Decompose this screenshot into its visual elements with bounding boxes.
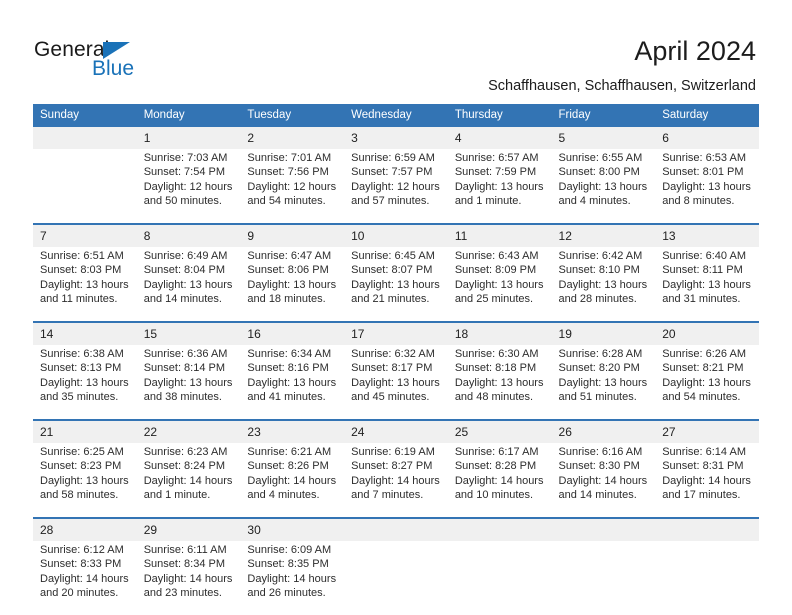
day-detail-line: Daylight: 13 hours xyxy=(455,278,546,292)
page-title: April 2024 xyxy=(634,36,756,67)
day-number-2[interactable]: 2 xyxy=(240,127,344,149)
day-detail-line: and 23 minutes. xyxy=(144,586,235,600)
day-detail-line: Sunrise: 6:47 AM xyxy=(247,249,338,263)
calendar-body: 123456Sunrise: 7:03 AMSunset: 7:54 PMDay… xyxy=(33,127,759,615)
day-detail-line: Daylight: 14 hours xyxy=(247,572,338,586)
day-number-27[interactable]: 27 xyxy=(655,420,759,443)
day-detail-line: and 48 minutes. xyxy=(455,390,546,404)
day-cell-27[interactable]: Sunrise: 6:14 AMSunset: 8:31 PMDaylight:… xyxy=(655,443,759,518)
day-detail-line: Sunrise: 6:55 AM xyxy=(559,151,650,165)
day-cell-empty xyxy=(344,541,448,615)
day-detail-line: Daylight: 13 hours xyxy=(559,278,650,292)
day-detail-line: Sunrise: 6:11 AM xyxy=(144,543,235,557)
day-detail-line: and 21 minutes. xyxy=(351,292,442,306)
day-number-29[interactable]: 29 xyxy=(137,518,241,541)
day-number-20[interactable]: 20 xyxy=(655,322,759,345)
day-detail-line: Daylight: 13 hours xyxy=(662,376,753,390)
day-detail-line: and 51 minutes. xyxy=(559,390,650,404)
brand-logo[interactable]: General Blue xyxy=(34,38,184,84)
day-detail-line: Daylight: 14 hours xyxy=(40,572,131,586)
calendar-week-row: Sunrise: 6:25 AMSunset: 8:23 PMDaylight:… xyxy=(33,443,759,518)
day-detail-line: and 20 minutes. xyxy=(40,586,131,600)
day-number-13[interactable]: 13 xyxy=(655,224,759,247)
day-detail-line: Daylight: 13 hours xyxy=(247,376,338,390)
day-detail-line: Sunset: 8:11 PM xyxy=(662,263,753,277)
day-detail-line: Sunrise: 6:21 AM xyxy=(247,445,338,459)
day-number-23[interactable]: 23 xyxy=(240,420,344,443)
day-detail-line: and 25 minutes. xyxy=(455,292,546,306)
calendar-week-row: Sunrise: 6:12 AMSunset: 8:33 PMDaylight:… xyxy=(33,541,759,615)
day-detail-line: Daylight: 13 hours xyxy=(455,376,546,390)
calendar-week-row: Sunrise: 6:38 AMSunset: 8:13 PMDaylight:… xyxy=(33,345,759,420)
day-number-19[interactable]: 19 xyxy=(552,322,656,345)
day-number-7[interactable]: 7 xyxy=(33,224,137,247)
day-detail-line: Daylight: 14 hours xyxy=(559,474,650,488)
day-detail-line: and 10 minutes. xyxy=(455,488,546,502)
day-detail-line: Sunrise: 6:16 AM xyxy=(559,445,650,459)
day-detail-line: Sunset: 8:16 PM xyxy=(247,361,338,375)
day-cell-17[interactable]: Sunrise: 6:32 AMSunset: 8:17 PMDaylight:… xyxy=(344,345,448,420)
day-detail-line: Sunset: 8:07 PM xyxy=(351,263,442,277)
day-detail-line: and 57 minutes. xyxy=(351,194,442,208)
day-cell-13[interactable]: Sunrise: 6:40 AMSunset: 8:11 PMDaylight:… xyxy=(655,247,759,322)
day-detail-line: Daylight: 13 hours xyxy=(351,278,442,292)
calendar-column-header-sunday: Sunday xyxy=(33,104,137,127)
day-cell-22[interactable]: Sunrise: 6:23 AMSunset: 8:24 PMDaylight:… xyxy=(137,443,241,518)
day-detail-line: Sunrise: 6:38 AM xyxy=(40,347,131,361)
day-detail-line: Daylight: 13 hours xyxy=(144,278,235,292)
day-detail-line: Sunset: 8:20 PM xyxy=(559,361,650,375)
day-number-empty xyxy=(344,518,448,541)
day-detail-line: Daylight: 12 hours xyxy=(351,180,442,194)
calendar-table: SundayMondayTuesdayWednesdayThursdayFrid… xyxy=(33,104,759,615)
day-number-empty xyxy=(552,518,656,541)
day-detail-line: Sunset: 8:24 PM xyxy=(144,459,235,473)
day-detail-line: Sunrise: 6:30 AM xyxy=(455,347,546,361)
day-detail-line: Daylight: 13 hours xyxy=(247,278,338,292)
day-detail-line: Sunrise: 6:26 AM xyxy=(662,347,753,361)
day-detail-line: and 4 minutes. xyxy=(247,488,338,502)
day-detail-line: Sunset: 8:35 PM xyxy=(247,557,338,571)
calendar-page: General Blue April 2024 Schaffhausen, Sc… xyxy=(0,0,792,612)
day-number-14[interactable]: 14 xyxy=(33,322,137,345)
day-detail-line: Daylight: 13 hours xyxy=(40,278,131,292)
day-number-28[interactable]: 28 xyxy=(33,518,137,541)
day-detail-line: Sunrise: 6:34 AM xyxy=(247,347,338,361)
day-detail-line: and 31 minutes. xyxy=(662,292,753,306)
day-number-5[interactable]: 5 xyxy=(552,127,656,149)
day-detail-line: Sunset: 8:03 PM xyxy=(40,263,131,277)
day-number-12[interactable]: 12 xyxy=(552,224,656,247)
day-detail-line: Sunset: 8:10 PM xyxy=(559,263,650,277)
day-detail-line: Sunrise: 6:09 AM xyxy=(247,543,338,557)
day-detail-line: Sunset: 8:06 PM xyxy=(247,263,338,277)
day-detail-line: Sunrise: 6:43 AM xyxy=(455,249,546,263)
day-number-24[interactable]: 24 xyxy=(344,420,448,443)
day-cell-3[interactable]: Sunrise: 6:59 AMSunset: 7:57 PMDaylight:… xyxy=(344,149,448,224)
day-number-17[interactable]: 17 xyxy=(344,322,448,345)
day-cell-26[interactable]: Sunrise: 6:16 AMSunset: 8:30 PMDaylight:… xyxy=(552,443,656,518)
day-detail-line: Sunrise: 6:36 AM xyxy=(144,347,235,361)
day-detail-line: Daylight: 14 hours xyxy=(455,474,546,488)
day-cell-24[interactable]: Sunrise: 6:19 AMSunset: 8:27 PMDaylight:… xyxy=(344,443,448,518)
day-detail-line: Sunset: 7:59 PM xyxy=(455,165,546,179)
calendar-daynumber-row: 123456 xyxy=(33,127,759,149)
day-detail-line: Sunset: 7:54 PM xyxy=(144,165,235,179)
day-cell-10[interactable]: Sunrise: 6:45 AMSunset: 8:07 PMDaylight:… xyxy=(344,247,448,322)
day-cell-11[interactable]: Sunrise: 6:43 AMSunset: 8:09 PMDaylight:… xyxy=(448,247,552,322)
day-detail-line: Daylight: 13 hours xyxy=(455,180,546,194)
day-detail-line: Sunrise: 6:42 AM xyxy=(559,249,650,263)
day-cell-12[interactable]: Sunrise: 6:42 AMSunset: 8:10 PMDaylight:… xyxy=(552,247,656,322)
day-detail-line: Sunset: 8:13 PM xyxy=(40,361,131,375)
day-detail-line: Daylight: 14 hours xyxy=(144,474,235,488)
day-detail-line: Daylight: 13 hours xyxy=(559,180,650,194)
calendar-header-row: SundayMondayTuesdayWednesdayThursdayFrid… xyxy=(33,104,759,127)
day-cell-empty xyxy=(33,149,137,224)
day-detail-line: Daylight: 13 hours xyxy=(662,180,753,194)
day-detail-line: Sunrise: 6:14 AM xyxy=(662,445,753,459)
day-cell-25[interactable]: Sunrise: 6:17 AMSunset: 8:28 PMDaylight:… xyxy=(448,443,552,518)
day-detail-line: and 54 minutes. xyxy=(662,390,753,404)
day-cell-15[interactable]: Sunrise: 6:36 AMSunset: 8:14 PMDaylight:… xyxy=(137,345,241,420)
day-cell-4[interactable]: Sunrise: 6:57 AMSunset: 7:59 PMDaylight:… xyxy=(448,149,552,224)
day-detail-line: Sunrise: 6:17 AM xyxy=(455,445,546,459)
calendar-week-row: Sunrise: 6:51 AMSunset: 8:03 PMDaylight:… xyxy=(33,247,759,322)
day-detail-line: and 45 minutes. xyxy=(351,390,442,404)
day-detail-line: and 1 minute. xyxy=(144,488,235,502)
day-detail-line: and 14 minutes. xyxy=(559,488,650,502)
day-number-4[interactable]: 4 xyxy=(448,127,552,149)
day-cell-14[interactable]: Sunrise: 6:38 AMSunset: 8:13 PMDaylight:… xyxy=(33,345,137,420)
day-detail-line: Sunset: 8:09 PM xyxy=(455,263,546,277)
page-header: General Blue April 2024 Schaffhausen, Sc… xyxy=(0,0,792,100)
day-cell-9[interactable]: Sunrise: 6:47 AMSunset: 8:06 PMDaylight:… xyxy=(240,247,344,322)
day-number-10[interactable]: 10 xyxy=(344,224,448,247)
day-number-16[interactable]: 16 xyxy=(240,322,344,345)
calendar-column-header-tuesday: Tuesday xyxy=(240,104,344,127)
day-number-6[interactable]: 6 xyxy=(655,127,759,149)
day-cell-20[interactable]: Sunrise: 6:26 AMSunset: 8:21 PMDaylight:… xyxy=(655,345,759,420)
day-detail-line: Sunset: 8:01 PM xyxy=(662,165,753,179)
day-detail-line: Sunset: 8:27 PM xyxy=(351,459,442,473)
day-detail-line: Sunrise: 6:45 AM xyxy=(351,249,442,263)
day-number-empty xyxy=(655,518,759,541)
day-detail-line: Sunset: 8:23 PM xyxy=(40,459,131,473)
day-detail-line: Sunrise: 6:19 AM xyxy=(351,445,442,459)
day-number-empty xyxy=(448,518,552,541)
day-number-empty xyxy=(33,127,137,149)
day-number-9[interactable]: 9 xyxy=(240,224,344,247)
day-cell-28[interactable]: Sunrise: 6:12 AMSunset: 8:33 PMDaylight:… xyxy=(33,541,137,615)
calendar-column-header-wednesday: Wednesday xyxy=(344,104,448,127)
day-number-30[interactable]: 30 xyxy=(240,518,344,541)
day-cell-5[interactable]: Sunrise: 6:55 AMSunset: 8:00 PMDaylight:… xyxy=(552,149,656,224)
day-detail-line: Sunrise: 6:23 AM xyxy=(144,445,235,459)
day-detail-line: Daylight: 14 hours xyxy=(144,572,235,586)
day-detail-line: and 4 minutes. xyxy=(559,194,650,208)
day-detail-line: and 1 minute. xyxy=(455,194,546,208)
day-number-22[interactable]: 22 xyxy=(137,420,241,443)
day-detail-line: Daylight: 12 hours xyxy=(144,180,235,194)
day-detail-line: Sunset: 8:28 PM xyxy=(455,459,546,473)
day-detail-line: and 18 minutes. xyxy=(247,292,338,306)
day-cell-30[interactable]: Sunrise: 6:09 AMSunset: 8:35 PMDaylight:… xyxy=(240,541,344,615)
day-number-11[interactable]: 11 xyxy=(448,224,552,247)
day-number-21[interactable]: 21 xyxy=(33,420,137,443)
day-detail-line: Sunset: 8:33 PM xyxy=(40,557,131,571)
day-cell-18[interactable]: Sunrise: 6:30 AMSunset: 8:18 PMDaylight:… xyxy=(448,345,552,420)
day-detail-line: and 11 minutes. xyxy=(40,292,131,306)
day-detail-line: Daylight: 13 hours xyxy=(559,376,650,390)
day-detail-line: Sunrise: 7:01 AM xyxy=(247,151,338,165)
day-detail-line: and 38 minutes. xyxy=(144,390,235,404)
day-detail-line: and 17 minutes. xyxy=(662,488,753,502)
day-number-3[interactable]: 3 xyxy=(344,127,448,149)
day-detail-line: and 50 minutes. xyxy=(144,194,235,208)
calendar-column-header-monday: Monday xyxy=(137,104,241,127)
day-cell-29[interactable]: Sunrise: 6:11 AMSunset: 8:34 PMDaylight:… xyxy=(137,541,241,615)
day-number-25[interactable]: 25 xyxy=(448,420,552,443)
day-cell-8[interactable]: Sunrise: 6:49 AMSunset: 8:04 PMDaylight:… xyxy=(137,247,241,322)
calendar-column-header-thursday: Thursday xyxy=(448,104,552,127)
day-cell-empty xyxy=(448,541,552,615)
day-detail-line: Sunrise: 6:57 AM xyxy=(455,151,546,165)
day-number-26[interactable]: 26 xyxy=(552,420,656,443)
day-detail-line: Sunrise: 6:12 AM xyxy=(40,543,131,557)
day-detail-line: Daylight: 13 hours xyxy=(144,376,235,390)
day-detail-line: and 14 minutes. xyxy=(144,292,235,306)
day-detail-line: Sunrise: 6:51 AM xyxy=(40,249,131,263)
day-detail-line: Sunset: 8:18 PM xyxy=(455,361,546,375)
day-detail-line: Sunrise: 6:49 AM xyxy=(144,249,235,263)
day-detail-line: Daylight: 14 hours xyxy=(662,474,753,488)
day-detail-line: and 8 minutes. xyxy=(662,194,753,208)
day-detail-line: Sunset: 8:21 PM xyxy=(662,361,753,375)
day-detail-line: Sunset: 8:26 PM xyxy=(247,459,338,473)
page-subtitle: Schaffhausen, Schaffhausen, Switzerland xyxy=(488,78,756,94)
day-cell-19[interactable]: Sunrise: 6:28 AMSunset: 8:20 PMDaylight:… xyxy=(552,345,656,420)
day-detail-line: Sunset: 8:34 PM xyxy=(144,557,235,571)
day-cell-empty xyxy=(655,541,759,615)
calendar-daynumber-row: 21222324252627 xyxy=(33,420,759,443)
day-detail-line: Sunrise: 6:53 AM xyxy=(662,151,753,165)
day-cell-1[interactable]: Sunrise: 7:03 AMSunset: 7:54 PMDaylight:… xyxy=(137,149,241,224)
day-detail-line: and 26 minutes. xyxy=(247,586,338,600)
day-detail-line: Sunset: 8:30 PM xyxy=(559,459,650,473)
day-number-1[interactable]: 1 xyxy=(137,127,241,149)
day-detail-line: and 41 minutes. xyxy=(247,390,338,404)
day-detail-line: Daylight: 14 hours xyxy=(351,474,442,488)
day-detail-line: Sunrise: 7:03 AM xyxy=(144,151,235,165)
calendar-week-row: Sunrise: 7:03 AMSunset: 7:54 PMDaylight:… xyxy=(33,149,759,224)
calendar-column-header-saturday: Saturday xyxy=(655,104,759,127)
day-cell-6[interactable]: Sunrise: 6:53 AMSunset: 8:01 PMDaylight:… xyxy=(655,149,759,224)
day-detail-line: Daylight: 12 hours xyxy=(247,180,338,194)
day-detail-line: and 28 minutes. xyxy=(559,292,650,306)
day-detail-line: Sunset: 7:56 PM xyxy=(247,165,338,179)
calendar-daynumber-row: 282930 xyxy=(33,518,759,541)
day-detail-line: and 7 minutes. xyxy=(351,488,442,502)
day-cell-7[interactable]: Sunrise: 6:51 AMSunset: 8:03 PMDaylight:… xyxy=(33,247,137,322)
day-detail-line: Sunrise: 6:32 AM xyxy=(351,347,442,361)
day-detail-line: Sunset: 8:14 PM xyxy=(144,361,235,375)
day-cell-21[interactable]: Sunrise: 6:25 AMSunset: 8:23 PMDaylight:… xyxy=(33,443,137,518)
day-number-8[interactable]: 8 xyxy=(137,224,241,247)
day-number-18[interactable]: 18 xyxy=(448,322,552,345)
day-detail-line: Sunrise: 6:59 AM xyxy=(351,151,442,165)
day-detail-line: and 35 minutes. xyxy=(40,390,131,404)
day-detail-line: Sunrise: 6:25 AM xyxy=(40,445,131,459)
day-detail-line: Daylight: 13 hours xyxy=(40,474,131,488)
day-detail-line: Sunset: 8:17 PM xyxy=(351,361,442,375)
brand-logo-text-blue: Blue xyxy=(92,57,134,81)
day-detail-line: Daylight: 14 hours xyxy=(247,474,338,488)
calendar-column-header-friday: Friday xyxy=(552,104,656,127)
day-number-15[interactable]: 15 xyxy=(137,322,241,345)
day-detail-line: Sunset: 8:00 PM xyxy=(559,165,650,179)
day-detail-line: and 58 minutes. xyxy=(40,488,131,502)
day-detail-line: Daylight: 13 hours xyxy=(662,278,753,292)
day-detail-line: and 54 minutes. xyxy=(247,194,338,208)
day-cell-empty xyxy=(552,541,656,615)
day-detail-line: Sunrise: 6:28 AM xyxy=(559,347,650,361)
calendar-daynumber-row: 14151617181920 xyxy=(33,322,759,345)
day-detail-line: Daylight: 13 hours xyxy=(351,376,442,390)
day-cell-23[interactable]: Sunrise: 6:21 AMSunset: 8:26 PMDaylight:… xyxy=(240,443,344,518)
day-detail-line: Sunset: 8:31 PM xyxy=(662,459,753,473)
calendar-daynumber-row: 78910111213 xyxy=(33,224,759,247)
day-detail-line: Daylight: 13 hours xyxy=(40,376,131,390)
day-cell-16[interactable]: Sunrise: 6:34 AMSunset: 8:16 PMDaylight:… xyxy=(240,345,344,420)
day-cell-2[interactable]: Sunrise: 7:01 AMSunset: 7:56 PMDaylight:… xyxy=(240,149,344,224)
day-detail-line: Sunset: 8:04 PM xyxy=(144,263,235,277)
day-detail-line: Sunrise: 6:40 AM xyxy=(662,249,753,263)
day-detail-line: Sunset: 7:57 PM xyxy=(351,165,442,179)
